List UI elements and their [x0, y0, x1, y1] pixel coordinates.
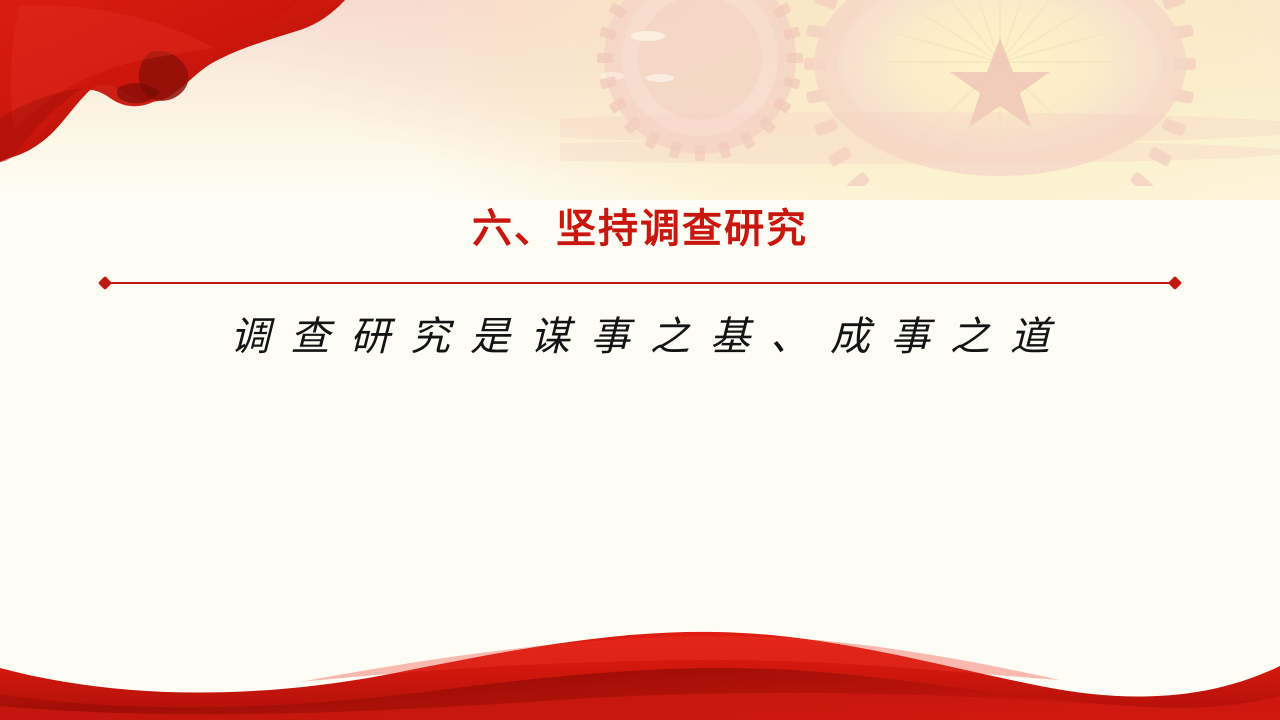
divider-diamond-right-icon: [1168, 276, 1182, 290]
slide-content: 六、坚持调查研究 调查研究是谋事之基、成事之道: [0, 0, 1280, 720]
page-title: 六、坚持调查研究: [0, 205, 1280, 253]
divider-rule: [108, 282, 1172, 284]
presentation-slide: 六、坚持调查研究 调查研究是谋事之基、成事之道: [0, 0, 1280, 720]
page-subtitle: 调查研究是谋事之基、成事之道: [0, 306, 1280, 368]
title-divider: [100, 276, 1180, 290]
